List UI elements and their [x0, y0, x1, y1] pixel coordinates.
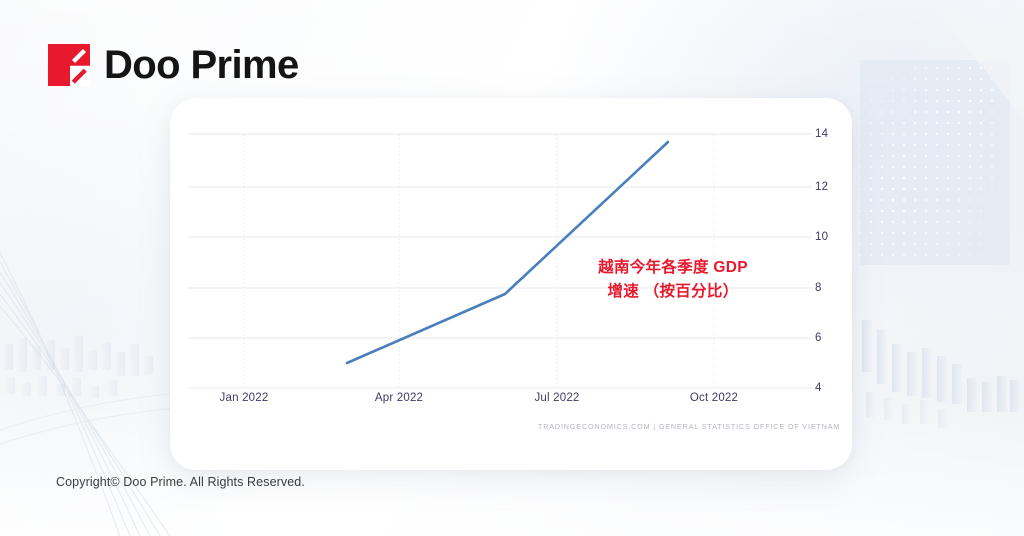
chart-plot-area: 14 12 10 8 6 4 Jan 2022 Apr 2022 Jul 202…	[170, 98, 852, 470]
y-tick-label: 4	[815, 382, 841, 394]
x-tick-label: Apr 2022	[375, 392, 423, 404]
chart-annotation-line-1: 越南今年各季度 GDP	[560, 256, 786, 280]
chart-annotation: 越南今年各季度 GDP 增速 （按百分比）	[560, 256, 786, 304]
brand-name: Doo Prime	[104, 45, 299, 85]
y-tick-label: 12	[815, 181, 841, 193]
y-tick-label: 10	[815, 231, 841, 243]
x-tick-label: Oct 2022	[690, 392, 738, 404]
slide-canvas: Doo Prime	[0, 0, 1024, 536]
x-tick-label: Jan 2022	[220, 392, 269, 404]
copyright-text: Copyright© Doo Prime. All Rights Reserve…	[56, 475, 305, 489]
y-tick-label: 8	[815, 282, 841, 294]
doo-prime-logo-icon	[48, 44, 90, 86]
chart-annotation-line-2: 增速 （按百分比）	[560, 280, 786, 304]
brand-logo: Doo Prime	[48, 44, 299, 86]
chart-card: 14 12 10 8 6 4 Jan 2022 Apr 2022 Jul 202…	[170, 98, 852, 470]
x-tick-label: Jul 2022	[534, 392, 579, 404]
y-tick-label: 14	[815, 128, 841, 140]
chart-source-note: TRADINGECONOMICS.COM | GENERAL STATISTIC…	[538, 422, 838, 431]
y-tick-label: 6	[815, 332, 841, 344]
